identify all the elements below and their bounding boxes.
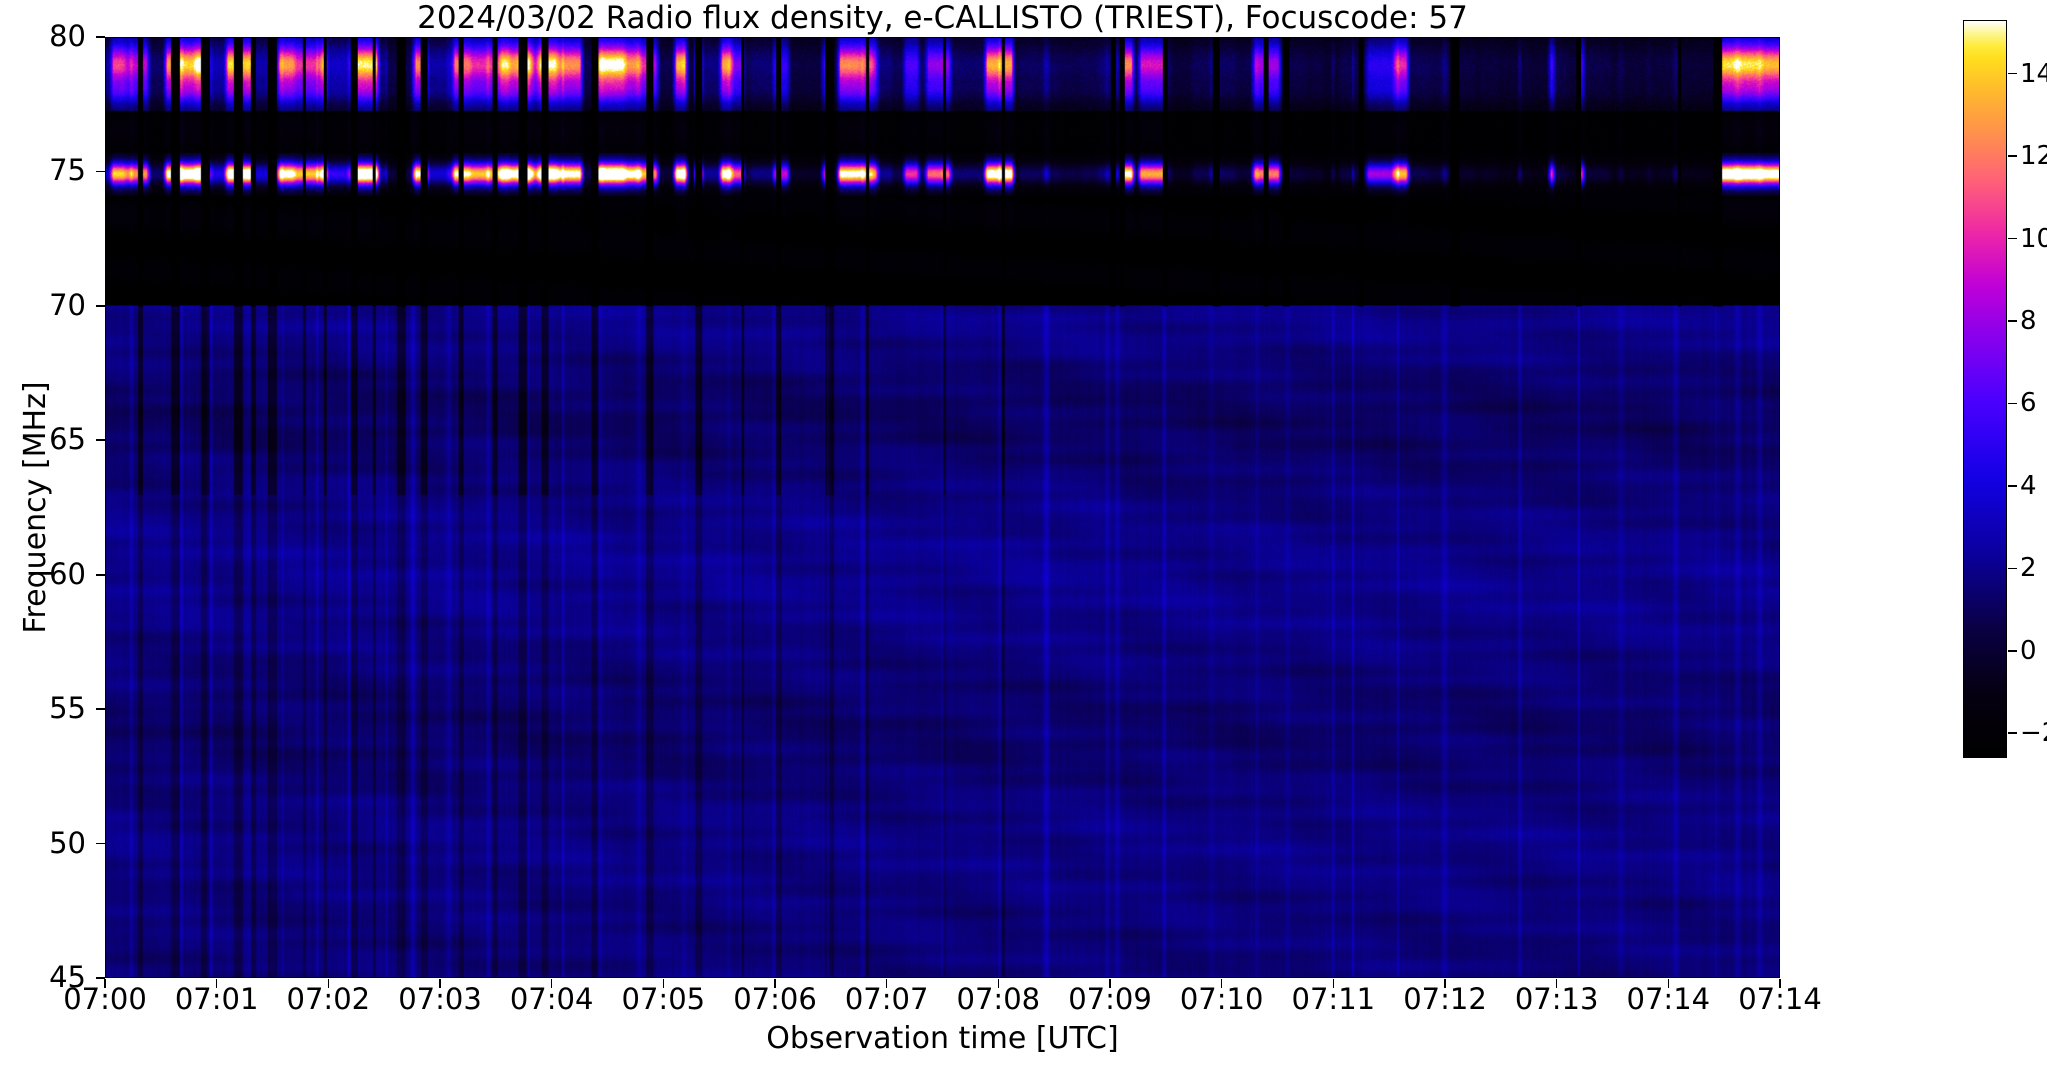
colorbar-tick-label: 0 [2020,638,2037,664]
colorbar-tick-mark [2008,73,2017,75]
y-tick-mark [96,171,105,173]
colorbar[interactable] [1963,20,2007,758]
y-tick-label: 65 [8,425,86,454]
y-tick-label: 75 [8,156,86,185]
colorbar-tick-mark [2008,155,2017,157]
colorbar-tick-label: 2 [2020,555,2037,581]
y-tick-mark [96,439,105,441]
colorbar-tick-label: 4 [2020,473,2037,499]
colorbar-tick-mark [2008,485,2017,487]
colorbar-tick-label: 6 [2020,390,2037,416]
y-tick-mark [96,574,105,576]
figure-canvas: 2024/03/02 Radio flux density, e-CALLIST… [0,0,2047,1067]
colorbar-tick-label: 12 [2020,143,2047,169]
y-tick-mark [96,708,105,710]
colorbar-gradient [1964,21,2006,757]
y-tick-label: 80 [8,22,86,51]
colorbar-tick-mark [2008,732,2017,734]
y-tick-label: 60 [8,560,86,589]
colorbar-tick-label: 14 [2020,61,2047,87]
x-tick-label: 07:14 [1705,985,1855,1014]
colorbar-tick-label: 8 [2020,308,2037,334]
y-tick-label: 50 [8,829,86,858]
y-tick-label: 55 [8,694,86,723]
y-tick-mark [96,305,105,307]
colorbar-tick-mark [2008,568,2017,570]
y-tick-mark [96,36,105,38]
colorbar-tick-mark [2008,320,2017,322]
spectrogram-image [106,38,1779,977]
y-tick-mark [96,843,105,845]
chart-title: 2024/03/02 Radio flux density, e-CALLIST… [105,1,1780,35]
colorbar-tick-label: −2 [2020,720,2047,746]
colorbar-tick-mark [2008,238,2017,240]
colorbar-tick-mark [2008,650,2017,652]
colorbar-tick-mark [2008,403,2017,405]
x-axis-label: Observation time [UTC] [105,1021,1780,1056]
colorbar-tick-label: 10 [2020,226,2047,252]
y-tick-label: 70 [8,291,86,320]
spectrogram-axes[interactable] [105,37,1780,978]
